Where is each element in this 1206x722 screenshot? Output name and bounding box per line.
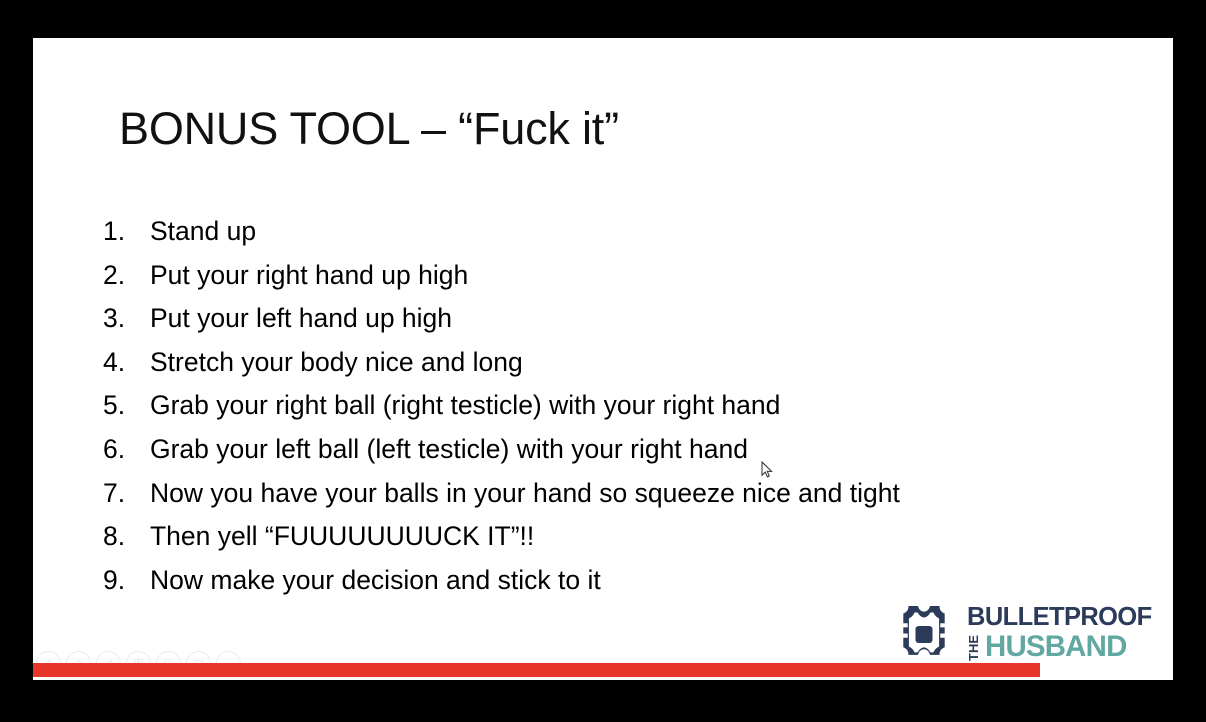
list-item-number: 1. — [103, 210, 150, 254]
slideshow-screen: BONUS TOOL – “Fuck it” 1. Stand up 2. Pu… — [0, 0, 1206, 722]
list-item-label: Grab your left ball (left testicle) with… — [150, 428, 748, 472]
list-item: 5. Grab your right ball (right testicle)… — [103, 384, 1103, 428]
list-item: 4. Stretch your body nice and long — [103, 341, 1103, 385]
list-item-label: Stretch your body nice and long — [150, 341, 523, 385]
bulletproof-vest-icon — [892, 600, 956, 664]
list-item: 6. Grab your left ball (left testicle) w… — [103, 428, 1103, 472]
brand-husband-text: HUSBAND — [985, 632, 1127, 662]
list-item-number: 7. — [103, 472, 150, 516]
mouse-pointer — [761, 461, 773, 479]
list-item-number: 2. — [103, 254, 150, 298]
brand-logo: BULLETPROOF THE HUSBAND — [892, 596, 1164, 668]
list-item-label: Now you have your balls in your hand so … — [150, 472, 900, 516]
brand-bulletproof-text: BULLETPROOF — [967, 603, 1152, 629]
brand-the-text: THE — [967, 635, 980, 661]
list-item-number: 5. — [103, 384, 150, 428]
list-item-number: 8. — [103, 515, 150, 559]
page-title: BONUS TOOL – “Fuck it” — [119, 104, 619, 154]
list-item: 8. Then yell “FUUUUUUUUCK IT”!! — [103, 515, 1103, 559]
red-accent-bar — [33, 663, 1040, 677]
list-item-number: 4. — [103, 341, 150, 385]
list-item-number: 3. — [103, 297, 150, 341]
presentation-slide[interactable]: BONUS TOOL – “Fuck it” 1. Stand up 2. Pu… — [33, 38, 1173, 680]
list-item-label: Then yell “FUUUUUUUUCK IT”!! — [150, 515, 534, 559]
list-item-label: Stand up — [150, 210, 256, 254]
list-item: 3. Put your left hand up high — [103, 297, 1103, 341]
list-item: 2. Put your right hand up high — [103, 254, 1103, 298]
brand-wordmark: BULLETPROOF THE HUSBAND — [967, 603, 1155, 662]
list-item-number: 9. — [103, 559, 150, 603]
list-item-label: Put your right hand up high — [150, 254, 468, 298]
brand-second-line: THE HUSBAND — [967, 632, 1155, 662]
list-item-number: 6. — [103, 428, 150, 472]
list-item: 7. Now you have your balls in your hand … — [103, 472, 1103, 516]
list-item-label: Put your left hand up high — [150, 297, 452, 341]
numbered-instruction-list: 1. Stand up 2. Put your right hand up hi… — [103, 210, 1103, 602]
list-item: 1. Stand up — [103, 210, 1103, 254]
list-item-label: Now make your decision and stick to it — [150, 559, 601, 603]
list-item-label: Grab your right ball (right testicle) wi… — [150, 384, 780, 428]
